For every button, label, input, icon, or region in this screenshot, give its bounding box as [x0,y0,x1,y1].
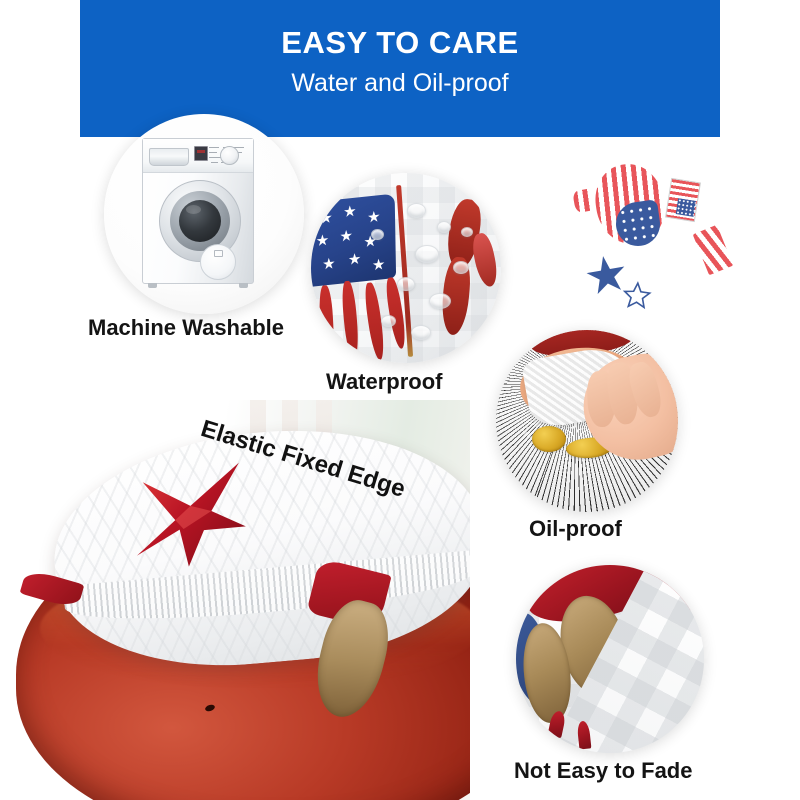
washer-filter-hatch[interactable] [200,244,236,280]
red-print-accent [441,199,499,339]
washer-foot [239,283,248,288]
feature-label-waterproof: Waterproof [326,371,443,393]
water-droplet [437,221,451,233]
detergent-drawer [149,148,189,166]
water-droplet [415,245,439,263]
feature-label-oil-proof: Oil-proof [529,518,622,540]
program-dial[interactable] [220,146,239,165]
water-droplet [461,227,473,237]
water-droplet [371,229,384,240]
oil-proof-photo [496,330,678,512]
water-droplet [397,277,415,291]
usa-flag-icon [665,178,701,222]
flag-stripes-small-icon [572,189,592,213]
header-banner: EASY TO CARE Water and Oil-proof [80,0,720,137]
feature-label-not-easy-to-fade: Not Easy to Fade [514,760,692,782]
washer-door-ring [170,191,230,251]
washer-door-glass [179,200,221,242]
red-star-print [113,453,267,581]
washer-control-panel [143,139,253,173]
water-droplet [407,203,426,218]
waterproof-photo: ★ ★ ★ ★ ★ ★ ★ ★ ★ [311,173,501,363]
feature-label-machine-washable: Machine Washable [88,317,284,339]
washer-display [194,146,208,161]
page-subtitle: Water and Oil-proof [80,71,720,96]
outline-star-icon [621,279,653,311]
flag-canton: ★ ★ ★ ★ ★ ★ ★ ★ ★ [311,194,396,287]
water-droplet [411,325,431,340]
water-droplet [429,293,451,309]
flag-stripes-fragment-icon [693,225,734,276]
water-droplet [453,261,469,274]
washing-machine-icon [142,138,254,284]
page-title: EASY TO CARE [80,27,720,58]
machine-washable-photo [104,114,304,314]
infographic-page: EASY TO CARE Water and Oil-proof [0,0,800,800]
washer-foot [148,283,157,288]
water-droplet [381,315,396,327]
not-easy-to-fade-photo [516,565,704,753]
patriotic-decorations: ★ [560,150,780,330]
oil-droplet [532,426,566,452]
elastic-fixed-edge-photo [0,400,470,800]
